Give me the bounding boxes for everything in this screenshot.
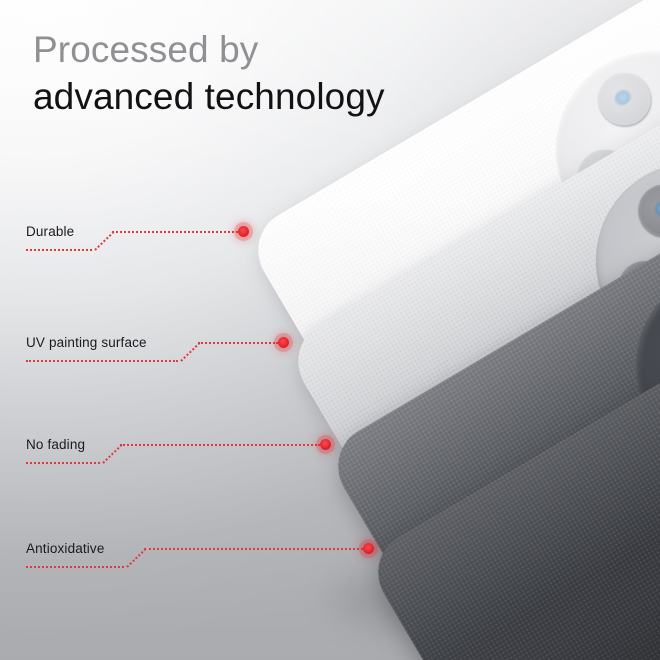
- callout-underline: [26, 249, 92, 251]
- callout-leader-line: [120, 444, 320, 446]
- callout-underline: [26, 360, 178, 362]
- callout-leader-line: [112, 231, 238, 233]
- callout-underline: [26, 462, 100, 464]
- callout-label: UV painting surface: [26, 335, 147, 350]
- callout-label: Antioxidative: [26, 541, 105, 556]
- page-title: Processed by advanced technology: [33, 28, 503, 118]
- callout-underline: [26, 566, 124, 568]
- callout-marker-dot: [363, 543, 374, 554]
- callout-leader-line: [198, 342, 278, 344]
- product-banner: Processed by advanced technology Durable…: [0, 0, 660, 660]
- callout-marker-dot: [238, 226, 249, 237]
- callout-marker-dot: [320, 439, 331, 450]
- callout-label: No fading: [26, 437, 85, 452]
- heading-line-2: advanced technology: [33, 75, 503, 119]
- callout-leader-line: [144, 548, 363, 550]
- callout-label: Durable: [26, 224, 74, 239]
- heading-line-1: Processed by: [33, 28, 503, 72]
- callout-marker-dot: [278, 337, 289, 348]
